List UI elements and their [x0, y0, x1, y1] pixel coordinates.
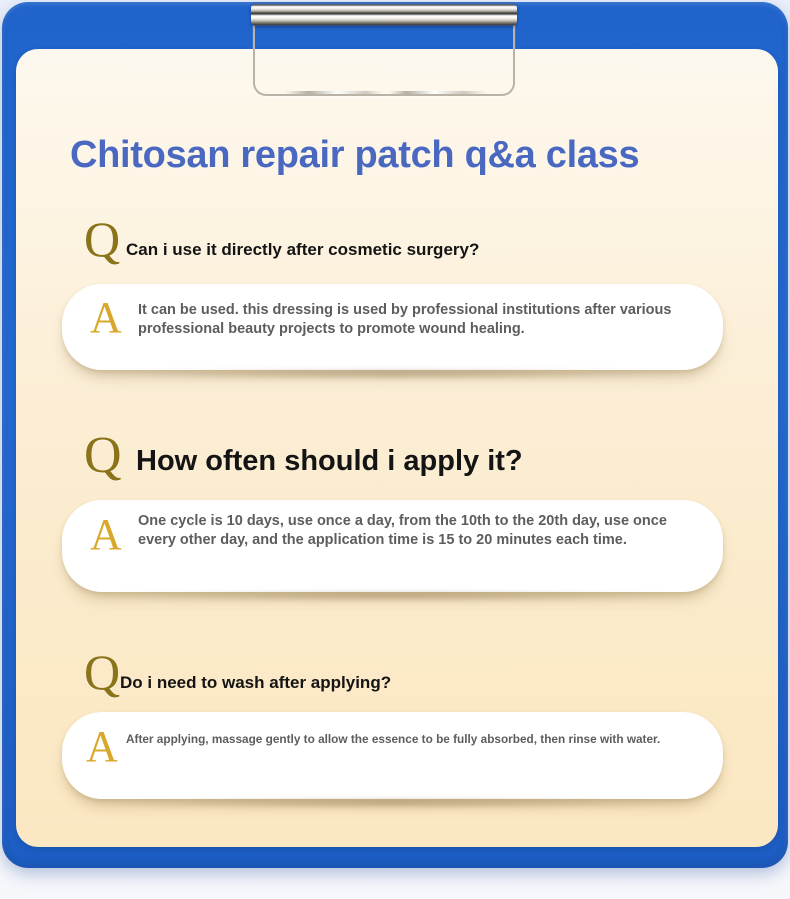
answer-mark-letter: A: [86, 725, 118, 769]
clip-wire-highlight: [285, 91, 487, 94]
answer-mark-letter: A: [90, 513, 122, 557]
answer-text: It can be used. this dressing is used by…: [138, 301, 678, 339]
answer-text: After applying, massage gently to allow …: [126, 732, 686, 748]
page-title: Chitosan repair patch q&a class: [70, 134, 730, 177]
answer-mark-letter: A: [90, 296, 122, 340]
question-text: Can i use it directly after cosmetic sur…: [126, 240, 479, 260]
question-text: Do i need to wash after applying?: [120, 673, 391, 693]
question-text: How often should i apply it?: [136, 445, 523, 478]
metal-clip-bar-icon: [251, 3, 517, 26]
answer-card: [62, 712, 723, 799]
question-mark-letter: Q: [84, 214, 120, 264]
question-mark-letter: Q: [84, 430, 122, 482]
infographic-page: Chitosan repair patch q&a class Q Can i …: [0, 0, 790, 899]
answer-text: One cycle is 10 days, use once a day, fr…: [138, 512, 678, 550]
question-mark-letter: Q: [84, 647, 120, 697]
